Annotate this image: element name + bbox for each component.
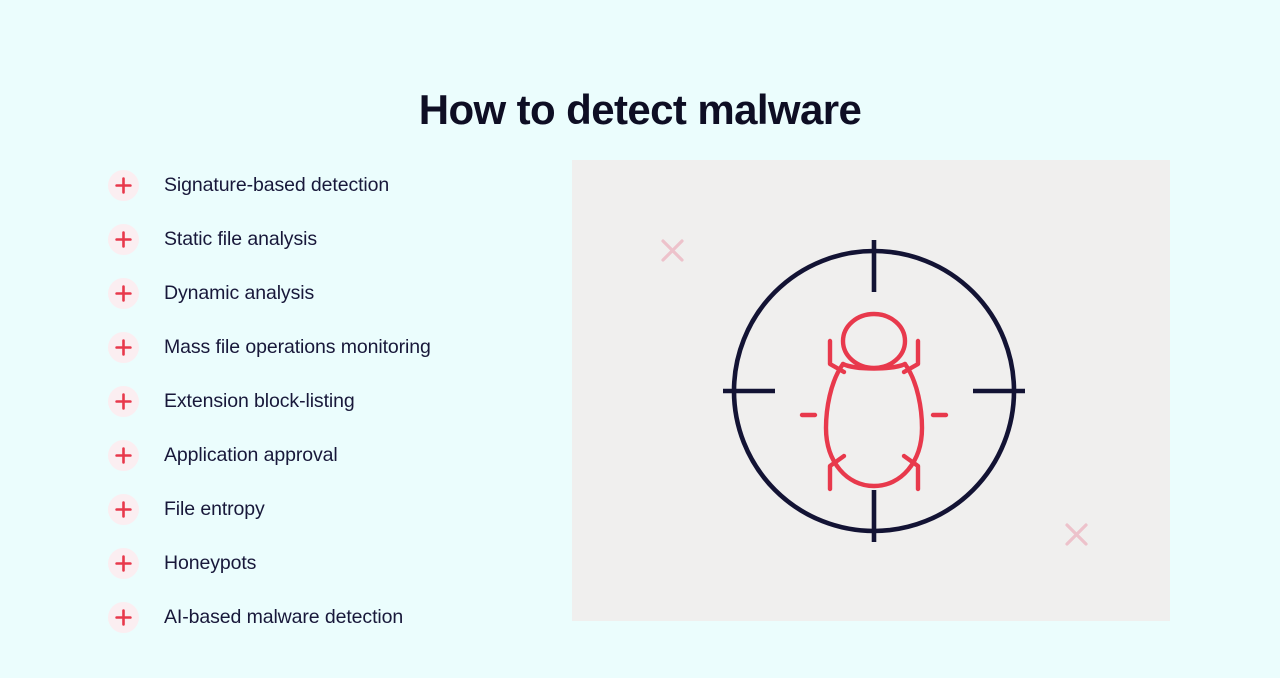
list-item-label: Dynamic analysis xyxy=(164,282,314,305)
list-item[interactable]: File entropy xyxy=(108,482,548,536)
x-mark-icon xyxy=(1067,525,1086,544)
plus-icon xyxy=(108,602,139,633)
plus-icon xyxy=(108,332,139,363)
list-item[interactable]: Signature-based detection xyxy=(108,158,548,212)
list-item-label: Extension block-listing xyxy=(164,390,355,413)
list-item[interactable]: AI-based malware detection xyxy=(108,590,548,644)
list-item[interactable]: Dynamic analysis xyxy=(108,266,548,320)
slide-root: How to detect malware Signature-based de… xyxy=(0,0,1280,678)
malware-detection-illustration xyxy=(572,160,1170,621)
list-item-label: Application approval xyxy=(164,444,338,467)
list-item[interactable]: Extension block-listing xyxy=(108,374,548,428)
list-item[interactable]: Honeypots xyxy=(108,536,548,590)
list-item[interactable]: Mass file operations monitoring xyxy=(108,320,548,374)
detection-methods-list: Signature-based detection Static file an… xyxy=(108,158,548,644)
plus-icon xyxy=(108,170,139,201)
list-item[interactable]: Application approval xyxy=(108,428,548,482)
plus-icon xyxy=(108,494,139,525)
list-item-label: Honeypots xyxy=(164,552,256,575)
plus-icon xyxy=(108,278,139,309)
plus-icon xyxy=(108,548,139,579)
list-item-label: Static file analysis xyxy=(164,228,317,251)
list-item-label: Signature-based detection xyxy=(164,174,389,197)
list-item-label: File entropy xyxy=(164,498,265,521)
plus-icon xyxy=(108,386,139,417)
list-item-label: Mass file operations monitoring xyxy=(164,336,431,359)
list-item[interactable]: Static file analysis xyxy=(108,212,548,266)
page-title: How to detect malware xyxy=(0,86,1280,134)
plus-icon xyxy=(108,224,139,255)
plus-icon xyxy=(108,440,139,471)
bug-icon xyxy=(802,314,946,489)
x-mark-icon xyxy=(663,241,682,260)
list-item-label: AI-based malware detection xyxy=(164,606,403,629)
crosshair-target-icon xyxy=(723,240,1025,542)
